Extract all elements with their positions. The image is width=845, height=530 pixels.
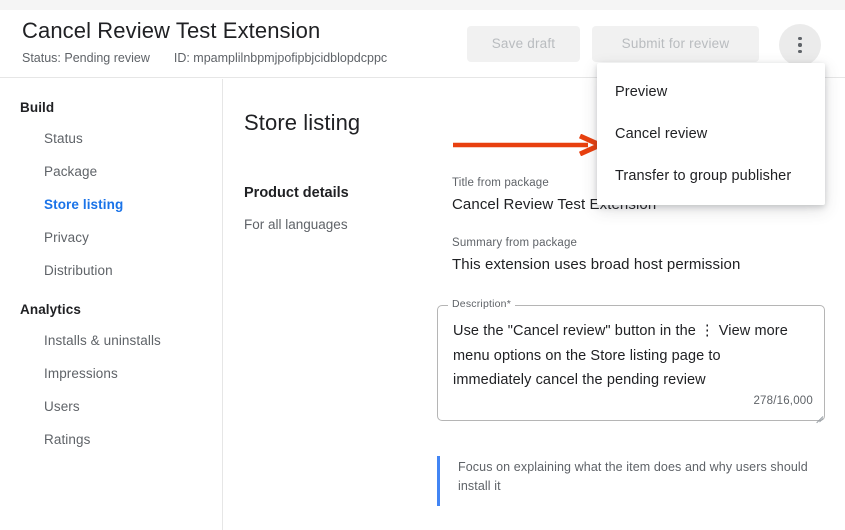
sidebar-section-analytics: Analytics (0, 287, 222, 324)
extension-id-text: ID: mpamplilnbpmjpofipbjcidblopdcppc (174, 51, 387, 65)
sidebar-nav: Build Status Package Store listing Priva… (0, 79, 223, 530)
description-field[interactable]: Description* 278/16,000 (437, 305, 825, 421)
more-vert-icon[interactable] (779, 24, 821, 66)
sidebar-item-distribution[interactable]: Distribution (0, 254, 222, 287)
resize-handle-icon[interactable] (813, 409, 823, 419)
description-helper-callout: Focus on explaining what the item does a… (437, 456, 827, 506)
page-title: Store listing (244, 110, 360, 136)
menu-item-preview[interactable]: Preview (597, 71, 825, 113)
summary-from-package-value: This extension uses broad host permissio… (452, 256, 845, 273)
product-details-subtitle: For all languages (244, 217, 348, 232)
description-helper-text: Focus on explaining what the item does a… (458, 456, 827, 496)
overflow-dropdown-menu: Preview Cancel review Transfer to group … (597, 63, 825, 205)
summary-from-package-field: Summary from package This extension uses… (452, 237, 845, 273)
sidebar-item-users[interactable]: Users (0, 390, 222, 423)
save-draft-button[interactable]: Save draft (467, 26, 580, 62)
dot-3 (798, 50, 801, 53)
header-meta: Status: Pending reviewID: mpamplilnbpmjp… (22, 51, 387, 65)
sidebar-item-privacy[interactable]: Privacy (0, 221, 222, 254)
menu-item-transfer-to-group-publisher[interactable]: Transfer to group publisher (597, 155, 825, 197)
sidebar-item-store-listing[interactable]: Store listing (0, 188, 222, 221)
extension-title: Cancel Review Test Extension (22, 18, 320, 44)
sidebar-item-impressions[interactable]: Impressions (0, 357, 222, 390)
sidebar-item-ratings[interactable]: Ratings (0, 423, 222, 456)
window-top-strip (0, 0, 845, 10)
sidebar-item-status[interactable]: Status (0, 122, 222, 155)
dot-2 (798, 43, 801, 46)
dot-1 (798, 37, 801, 40)
status-text: Status: Pending review (22, 51, 150, 65)
submit-for-review-button[interactable]: Submit for review (592, 26, 759, 62)
product-details-heading: Product details (244, 185, 349, 201)
description-input[interactable] (451, 317, 803, 395)
sidebar-section-build: Build (0, 93, 222, 122)
sidebar-item-package[interactable]: Package (0, 155, 222, 188)
sidebar-item-installs-uninstalls[interactable]: Installs & uninstalls (0, 324, 222, 357)
description-label: Description* (448, 298, 515, 310)
menu-item-cancel-review[interactable]: Cancel review (597, 113, 825, 155)
description-char-counter: 278/16,000 (753, 395, 813, 407)
summary-from-package-label: Summary from package (452, 237, 845, 249)
